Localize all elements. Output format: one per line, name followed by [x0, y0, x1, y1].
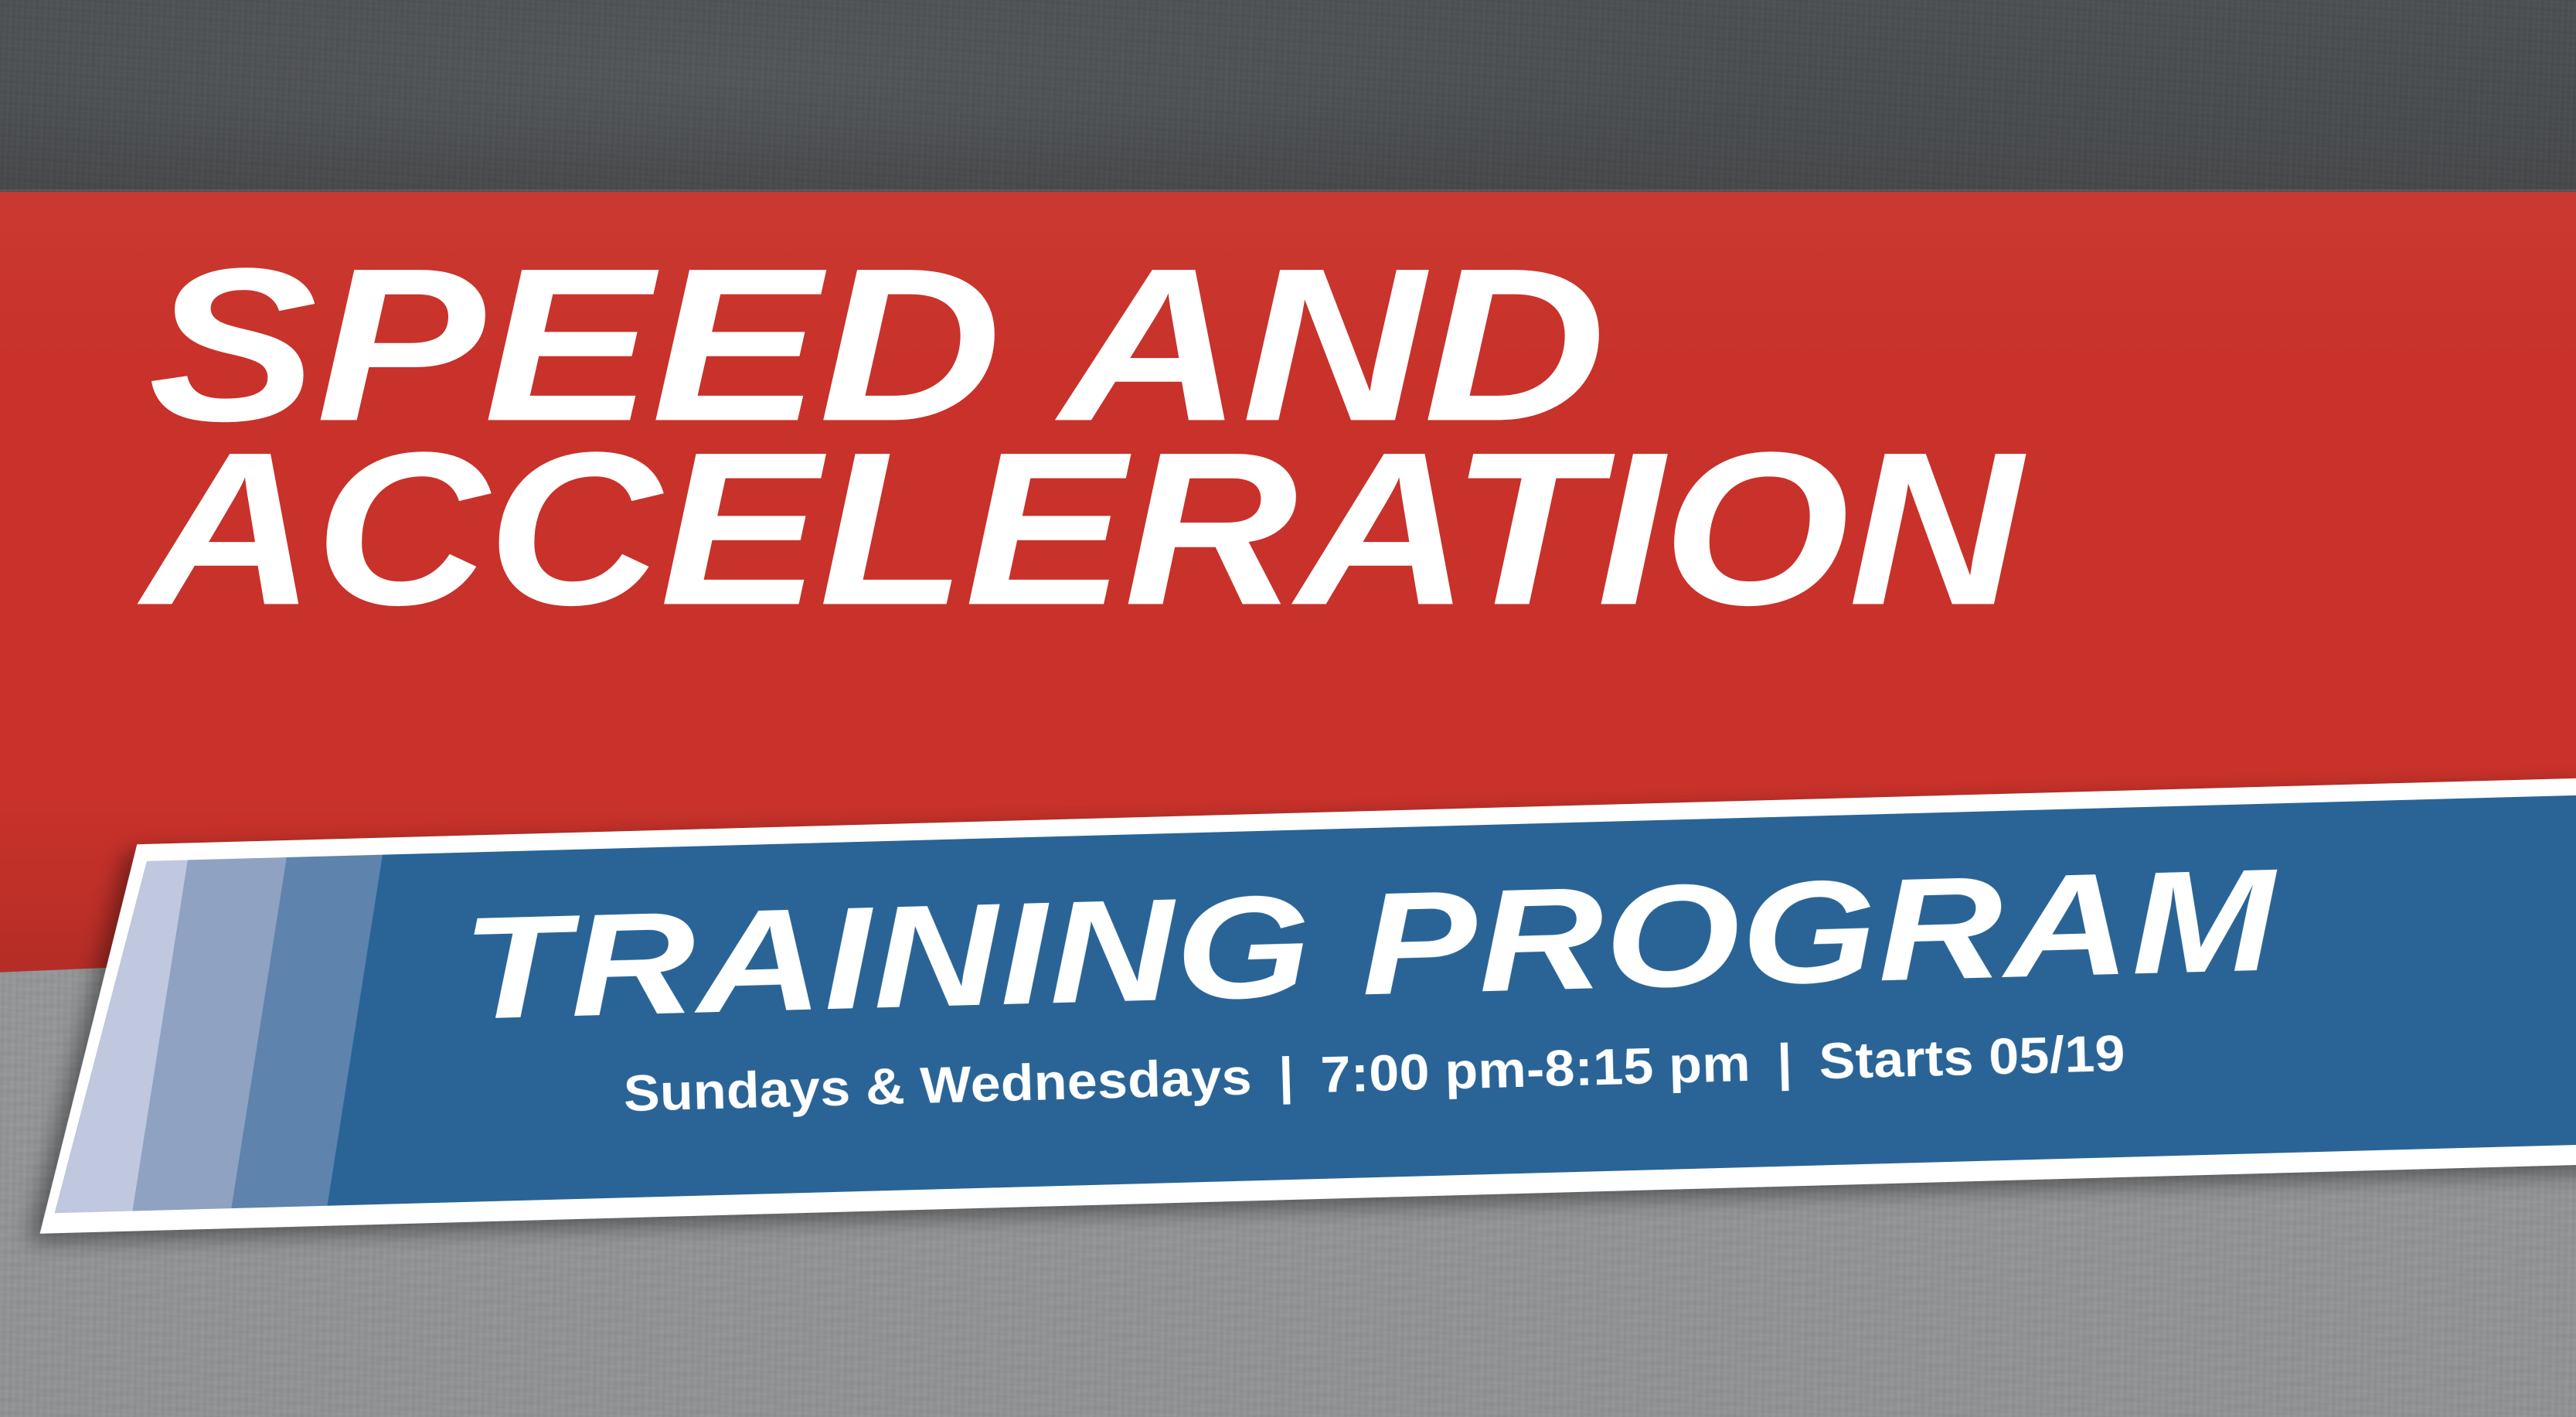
banner-details: Sundays & Wednesdays | 7:00 pm-8:15 pm |… [623, 1027, 2126, 1119]
banner-detail-time: 7:00 pm-8:15 pm [1320, 1034, 1751, 1103]
banner-detail-separator-2: | [1765, 1036, 1805, 1088]
wall-dark-texture [0, 0, 2576, 193]
banner-text-group: TRAINING PROGRAM Sundays & Wednesdays | … [46, 795, 2576, 1213]
banner-detail-days: Sundays & Wednesdays [623, 1047, 1253, 1122]
poster-banner: SPEED AND ACCELERATION TRAINING PROGRAM … [0, 0, 2576, 1417]
training-program-banner: TRAINING PROGRAM Sundays & Wednesdays | … [29, 778, 2576, 1234]
banner-title: TRAINING PROGRAM [461, 846, 2278, 1041]
banner-blue-field: TRAINING PROGRAM Sundays & Wednesdays | … [46, 795, 2576, 1213]
banner-detail-start-date: Starts 05/19 [1819, 1024, 2126, 1090]
banner-detail-separator-1: | [1267, 1049, 1306, 1101]
